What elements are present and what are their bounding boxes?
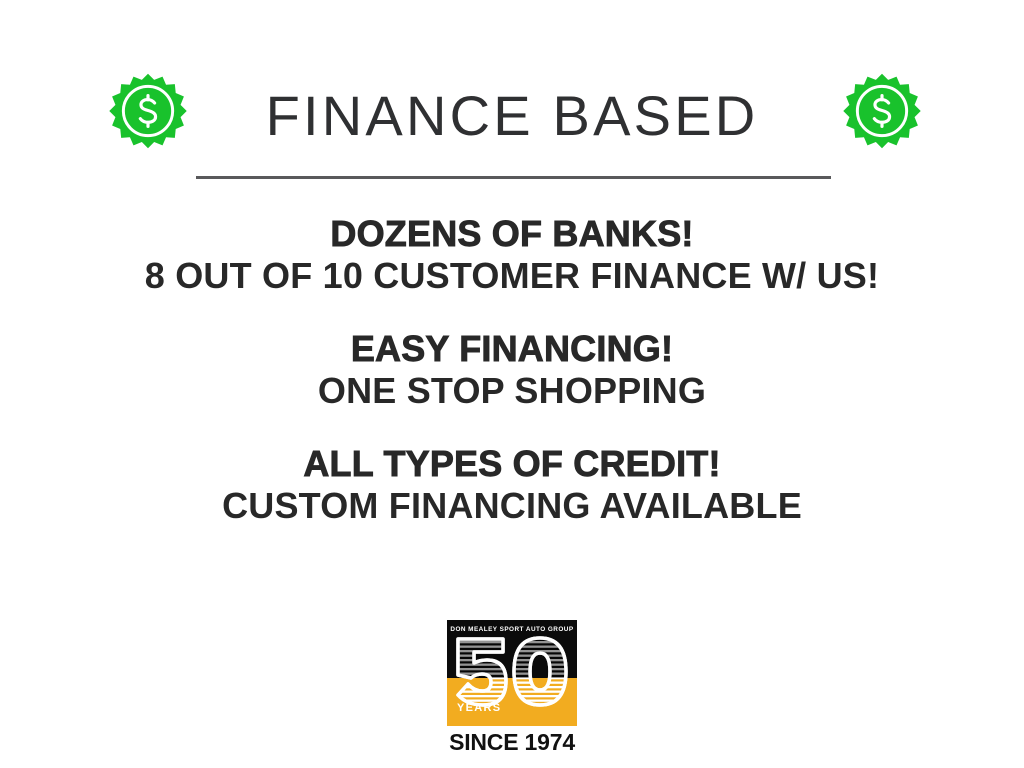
copy-block: DOZENS OF BANKS! 8 OUT OF 10 CUSTOMER FI… (0, 213, 1024, 298)
money-gear-icon (838, 72, 926, 160)
copy-block: EASY FINANCING! ONE STOP SHOPPING (0, 328, 1024, 413)
copy-headline: ALL TYPES OF CREDIT! (0, 443, 1024, 485)
copy-subline: CUSTOM FINANCING AVAILABLE (0, 485, 1024, 527)
logo-mark: DON MEALEY SPORT AUTO GROUP (447, 620, 577, 726)
slide-header: FINANCE BASED (0, 72, 1024, 190)
title-divider (196, 176, 831, 179)
money-gear-icon (104, 72, 192, 160)
slide-canvas: FINANCE BASED DOZENS OF BANKS! 8 O (0, 0, 1024, 768)
copy-subline: ONE STOP SHOPPING (0, 370, 1024, 412)
copy-block: ALL TYPES OF CREDIT! CUSTOM FINANCING AV… (0, 443, 1024, 528)
logo-since-label: SINCE 1974 (447, 729, 577, 755)
body-copy: DOZENS OF BANKS! 8 OUT OF 10 CUSTOMER FI… (0, 213, 1024, 528)
logo-fifty-numeral (447, 632, 577, 712)
copy-subline: 8 OUT OF 10 CUSTOMER FINANCE W/ US! (0, 255, 1024, 297)
logo-years-label: YEARS (457, 702, 501, 715)
page-title: FINANCE BASED (212, 74, 812, 158)
copy-headline: EASY FINANCING! (0, 328, 1024, 370)
copy-headline: DOZENS OF BANKS! (0, 213, 1024, 255)
dealer-logo: DON MEALEY SPORT AUTO GROUP (447, 620, 577, 755)
